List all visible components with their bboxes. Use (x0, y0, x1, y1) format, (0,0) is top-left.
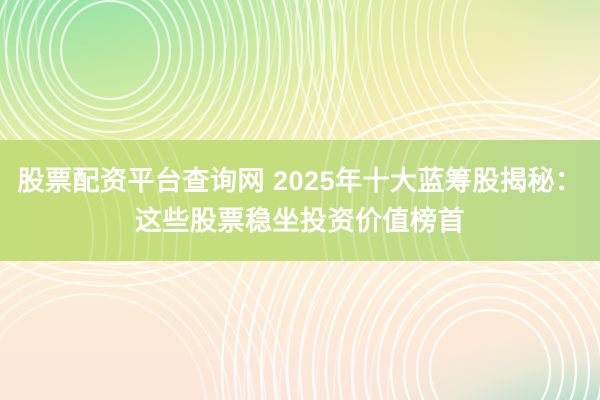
headline-line-1: 股票配资平台查询网 2025年十大蓝筹股揭秘： (17, 164, 582, 198)
banner-graphic: 股票配资平台查询网 2025年十大蓝筹股揭秘： 这些股票稳坐投资价值榜首 (0, 0, 600, 400)
headline-text-block: 股票配资平台查询网 2025年十大蓝筹股揭秘： 这些股票稳坐投资价值榜首 (0, 140, 600, 261)
headline-line-2: 这些股票稳坐投资价值榜首 (135, 204, 465, 238)
